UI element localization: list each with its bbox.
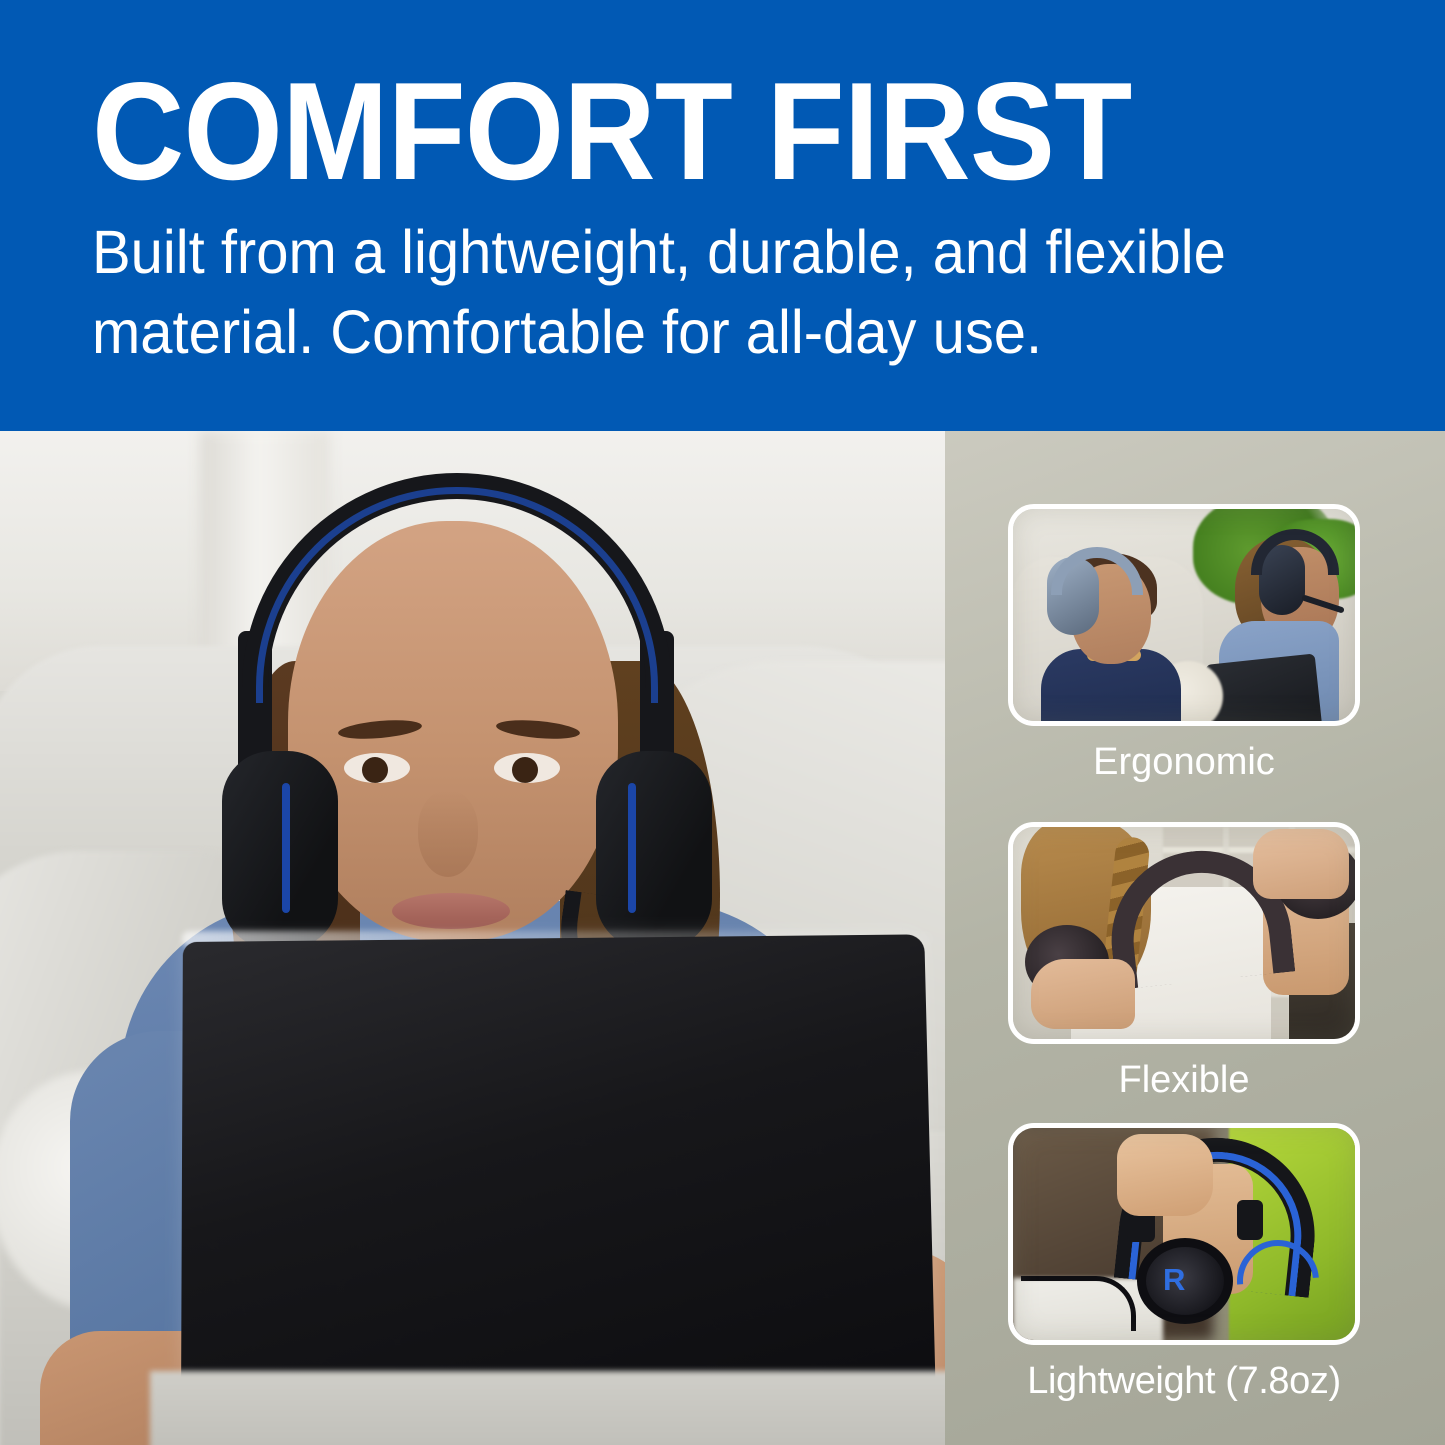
- laptop: [181, 934, 936, 1402]
- t3-slider-right: [1237, 1200, 1263, 1240]
- t3-hand: [1117, 1134, 1213, 1216]
- subtitle: Built from a lightweight, durable, and f…: [92, 212, 1289, 372]
- t2-hand-right: [1253, 829, 1349, 899]
- feature-card-flexible[interactable]: Flexible: [1008, 822, 1360, 1102]
- headset-earcup-accent-right: [628, 783, 636, 913]
- page-title: COMFORT FIRST: [92, 62, 1131, 201]
- nose: [418, 791, 478, 877]
- feature-column: Ergonomic: [945, 431, 1445, 1445]
- hero-photo: [0, 431, 945, 1445]
- laptop-base: [150, 1371, 945, 1445]
- t3-earcup-marking: R: [1163, 1264, 1185, 1295]
- eye-right: [494, 753, 560, 783]
- feature-card-ergonomic[interactable]: Ergonomic: [1008, 504, 1360, 784]
- feature-thumbnail-ergonomic: [1008, 504, 1360, 726]
- feature-label-flexible: Flexible: [1008, 1058, 1360, 1102]
- subtitle-line-2: material. Comfortable for all-day use.: [92, 292, 1289, 372]
- feature-label-ergonomic: Ergonomic: [1008, 740, 1360, 784]
- photo-area: Ergonomic: [0, 431, 1445, 1445]
- eye-left: [344, 753, 410, 783]
- subtitle-line-1: Built from a lightweight, durable, and f…: [92, 212, 1289, 292]
- feature-card-lightweight[interactable]: R Lightweight (7.8oz): [1008, 1123, 1360, 1403]
- iris-right: [512, 757, 538, 783]
- headset-earcup-left: [222, 751, 338, 949]
- feature-thumbnail-flexible: [1008, 822, 1360, 1044]
- headset-earcup-accent-left: [282, 783, 290, 913]
- t2-hand-left: [1031, 959, 1135, 1029]
- t3-cable: [1021, 1276, 1136, 1331]
- iris-left: [362, 757, 388, 783]
- mouth: [392, 893, 510, 929]
- feature-label-lightweight: Lightweight (7.8oz): [1008, 1359, 1360, 1403]
- headline-banner: COMFORT FIRST Built from a lightweight, …: [0, 0, 1445, 431]
- feature-thumbnail-lightweight: R: [1008, 1123, 1360, 1345]
- product-feature-image: COMFORT FIRST Built from a lightweight, …: [0, 0, 1445, 1445]
- t1-tablet: [1205, 653, 1323, 726]
